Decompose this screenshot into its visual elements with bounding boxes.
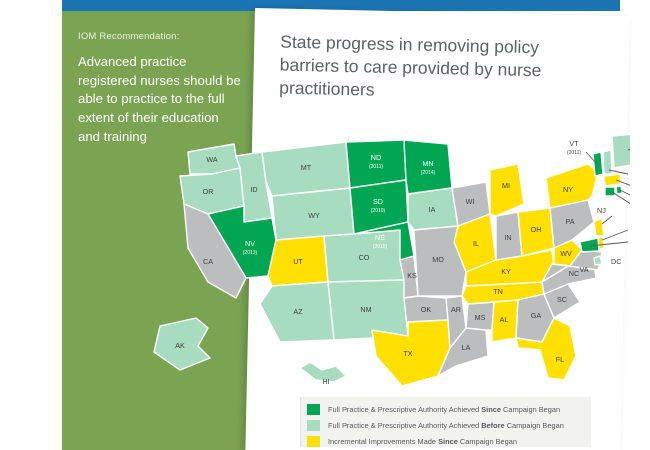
state-label-NY: NY	[563, 185, 573, 194]
state-DC[interactable]	[594, 256, 602, 265]
state-label-WI: WI	[466, 197, 475, 206]
leader-NJ	[602, 216, 612, 224]
state-label-CA: CA	[203, 257, 213, 266]
legend-label: Full Practice & Prescriptive Authority A…	[328, 405, 560, 414]
state-label-AR: AR	[451, 305, 461, 314]
legend: Full Practice & Prescriptive Authority A…	[300, 397, 591, 447]
legend-swatch-dark-green	[307, 404, 320, 415]
state-year-NE: (2015)	[373, 244, 388, 250]
state-label-MN: MN	[422, 159, 433, 168]
state-ME[interactable]	[612, 134, 630, 168]
state-label-IN: IN	[504, 233, 511, 242]
state-label-TX: TX	[403, 349, 412, 358]
infographic-root: IOM Recommendation: Advanced practice re…	[0, 0, 650, 450]
callout-label-NJ: NJ	[597, 206, 606, 215]
legend-label: Full Practice & Prescriptive Authority A…	[328, 421, 564, 430]
state-label-AZ: AZ	[293, 307, 303, 316]
state-label-ND: ND	[371, 153, 381, 162]
legend-swatch-yellow	[307, 436, 320, 447]
state-label-NC: NC	[569, 269, 579, 278]
state-label-NV: NV	[245, 239, 255, 248]
state-label-IL: IL	[473, 239, 479, 248]
state-VT[interactable]	[593, 152, 603, 176]
state-year-SD: (2010)	[371, 208, 386, 214]
state-MI[interactable]	[490, 164, 524, 216]
state-MA[interactable]	[604, 174, 621, 186]
legend-item[interactable]: Full Practice & Prescriptive Authority A…	[301, 417, 591, 433]
state-label-LA: LA	[462, 343, 471, 352]
state-year-ND: (2011)	[369, 164, 383, 170]
state-label-OK: OK	[421, 305, 432, 314]
state-RI[interactable]	[616, 186, 622, 194]
state-label-NM: NM	[360, 305, 371, 314]
iom-kicker: IOM Recommendation:	[78, 31, 244, 42]
legend-swatch-light-green	[307, 420, 320, 431]
leader-DE	[602, 230, 628, 240]
state-label-WV: WV	[560, 249, 572, 258]
state-label-SC: SC	[557, 295, 567, 304]
state-label-VA: VA	[579, 265, 588, 274]
state-label-HI: HI	[322, 377, 329, 386]
callout-year-VT: (2011)	[567, 150, 581, 156]
callout-label-VT: VT	[569, 139, 579, 148]
state-label-MS: MS	[475, 313, 486, 322]
state-label-MT: MT	[301, 163, 312, 172]
callout-label-DC: DC	[611, 257, 621, 266]
state-label-OH: OH	[531, 225, 542, 234]
state-label-NE: NE	[375, 233, 385, 242]
state-label-MI: MI	[502, 181, 510, 190]
state-label-ID: ID	[250, 185, 257, 194]
state-label-PA: PA	[565, 217, 574, 226]
state-CT[interactable]	[605, 187, 615, 196]
legend-item[interactable]: Full Practice & Prescriptive Authority A…	[301, 401, 591, 417]
state-label-KS: KS	[407, 271, 417, 280]
state-label-OR: OR	[203, 187, 214, 196]
page-title: State progress in removing policy barrie…	[279, 31, 590, 107]
state-label-AL: AL	[500, 315, 509, 324]
us-map-svg: WA OR ID MT WY NV (2013) UT CO CA AZ NM …	[150, 130, 630, 390]
state-label-FL: FL	[556, 355, 564, 364]
state-label-WA: WA	[206, 155, 218, 164]
state-label-GA: GA	[531, 311, 542, 320]
state-year-MN: (2014)	[421, 170, 436, 176]
state-label-MO: MO	[432, 255, 444, 264]
state-NJ[interactable]	[594, 218, 604, 236]
legend-item[interactable]: Incremental Improvements Made Since Camp…	[301, 433, 591, 449]
state-label-IA: IA	[429, 205, 436, 214]
us-map: WA OR ID MT WY NV (2013) UT CO CA AZ NM …	[150, 130, 630, 390]
state-year-NV: (2013)	[243, 250, 258, 256]
state-label-CO: CO	[359, 253, 370, 262]
state-label-SD: SD	[373, 197, 383, 206]
state-label-AK: AK	[175, 341, 185, 350]
state-label-UT: UT	[293, 257, 303, 266]
legend-label: Incremental Improvements Made Since Camp…	[328, 437, 517, 446]
state-label-TN: TN	[493, 287, 503, 296]
state-label-KY: KY	[501, 267, 511, 276]
state-label-WY: WY	[308, 211, 320, 220]
